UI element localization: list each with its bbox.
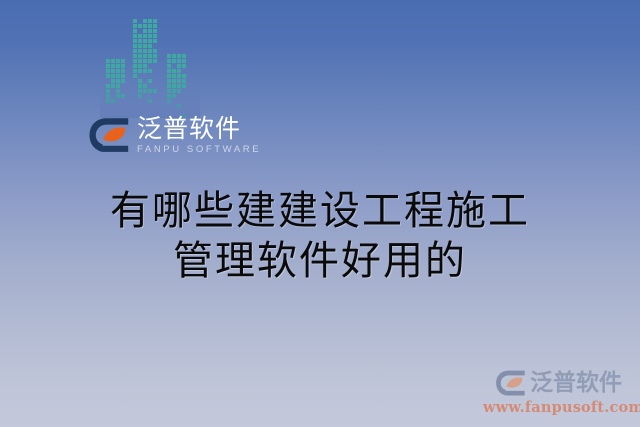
skyline-pixel bbox=[133, 29, 137, 33]
skyline-pixel bbox=[172, 89, 176, 93]
skyline-pixel bbox=[143, 104, 147, 108]
skyline-pixel bbox=[182, 104, 186, 108]
skyline-pixel bbox=[121, 99, 125, 103]
skyline-pixel bbox=[138, 94, 142, 98]
skyline-pixel bbox=[138, 24, 142, 28]
skyline-pixel bbox=[133, 109, 137, 113]
skyline-pixel bbox=[153, 49, 157, 53]
skyline-pixel bbox=[172, 99, 176, 103]
skyline-pixel bbox=[121, 84, 125, 88]
skyline-pixel bbox=[153, 19, 157, 23]
skyline-pixel bbox=[153, 54, 157, 58]
skyline-pixel bbox=[153, 39, 157, 43]
skyline-pixel bbox=[177, 69, 181, 73]
skyline-pixel bbox=[167, 54, 171, 58]
skyline-pixel bbox=[138, 29, 142, 33]
skyline-pixel bbox=[106, 104, 110, 108]
skyline-pixel bbox=[106, 94, 110, 98]
skyline-pixel bbox=[138, 54, 142, 58]
skyline-pixel bbox=[121, 74, 125, 78]
skyline-pixel bbox=[106, 84, 110, 88]
skyline-pixel bbox=[148, 79, 152, 83]
slide-canvas: 泛普软件 FANPU SOFTWARE 有哪些建建设工程施工 管理软件好用的 泛… bbox=[0, 0, 640, 427]
skyline-pixel bbox=[153, 69, 157, 73]
skyline-pixel bbox=[121, 59, 125, 63]
skyline-pixel bbox=[106, 74, 110, 78]
skyline-pixel bbox=[121, 109, 125, 113]
skyline-pixel bbox=[116, 89, 120, 93]
skyline-pixel bbox=[177, 104, 181, 108]
skyline-pixel bbox=[133, 84, 137, 88]
skyline-pixel bbox=[133, 89, 137, 93]
skyline-pixel bbox=[153, 29, 157, 33]
skyline-pixel bbox=[177, 99, 181, 103]
skyline-pixel bbox=[106, 109, 110, 113]
skyline-pixel bbox=[153, 74, 157, 78]
skyline-pixel bbox=[133, 19, 137, 23]
skyline-pixel bbox=[182, 99, 186, 103]
skyline-pixel bbox=[133, 94, 137, 98]
skyline-pixel bbox=[121, 104, 125, 108]
skyline-pixel bbox=[172, 94, 176, 98]
skyline-pixel bbox=[106, 64, 110, 68]
skyline-pixel bbox=[148, 59, 152, 63]
skyline-pixel bbox=[133, 39, 137, 43]
skyline-pixel bbox=[143, 89, 147, 93]
skyline-pixel bbox=[111, 59, 115, 63]
skyline-pixel bbox=[143, 94, 147, 98]
skyline-pixel bbox=[172, 84, 176, 88]
skyline-pixel bbox=[116, 99, 120, 103]
skyline-pixel bbox=[133, 64, 137, 68]
skyline-pixel bbox=[106, 59, 110, 63]
skyline-pixel bbox=[133, 79, 137, 83]
skyline-pixel bbox=[121, 89, 125, 93]
skyline-pixel bbox=[143, 84, 147, 88]
skyline-pixel bbox=[138, 89, 142, 93]
page-title-line-1: 有哪些建建设工程施工 bbox=[0, 186, 640, 236]
skyline-pixel bbox=[182, 94, 186, 98]
skyline-pixel bbox=[133, 99, 137, 103]
skyline-pixel bbox=[167, 104, 171, 108]
skyline-pixel bbox=[167, 64, 171, 68]
skyline-pixel bbox=[111, 104, 115, 108]
skyline-pixel bbox=[116, 84, 120, 88]
skyline-pixel bbox=[138, 99, 142, 103]
skyline-pixel bbox=[111, 69, 115, 73]
watermark: 泛普软件 www.fanpusoft.com bbox=[483, 369, 631, 416]
skyline-pixel bbox=[133, 49, 137, 53]
skyline-pixel bbox=[148, 74, 152, 78]
skyline-pixel bbox=[177, 74, 181, 78]
skyline-pixel bbox=[143, 69, 147, 73]
skyline-pixel bbox=[138, 104, 142, 108]
skyline-pixel bbox=[143, 74, 147, 78]
skyline-pixel bbox=[116, 104, 120, 108]
skyline-pixel bbox=[138, 34, 142, 38]
skyline-center-tower bbox=[133, 19, 162, 118]
skyline-pixel bbox=[148, 44, 152, 48]
skyline-pixel bbox=[167, 89, 171, 93]
skyline-pixel bbox=[138, 69, 142, 73]
skyline-pixel bbox=[167, 109, 171, 113]
skyline-pixel bbox=[138, 79, 142, 83]
skyline-pixel bbox=[172, 109, 176, 113]
skyline-pixel bbox=[167, 79, 171, 83]
skyline-pixel bbox=[177, 64, 181, 68]
skyline-pixel bbox=[138, 39, 142, 43]
skyline-pixel bbox=[148, 39, 152, 43]
skyline-pixel bbox=[182, 74, 186, 78]
skyline-pixel bbox=[138, 74, 142, 78]
skyline-pixel bbox=[143, 34, 147, 38]
skyline-pixel bbox=[148, 29, 152, 33]
skyline-pixel bbox=[111, 99, 115, 103]
skyline-pixel bbox=[182, 109, 186, 113]
skyline-pixel bbox=[133, 44, 137, 48]
skyline-pixel bbox=[116, 94, 120, 98]
skyline-pixel bbox=[133, 69, 137, 73]
skyline-pixel bbox=[177, 94, 181, 98]
skyline-pixel bbox=[182, 84, 186, 88]
skyline-pixel bbox=[177, 89, 181, 93]
skyline-pixel bbox=[143, 39, 147, 43]
skyline-pixel bbox=[143, 64, 147, 68]
skyline-pixel bbox=[111, 79, 115, 83]
skyline-pixel bbox=[148, 94, 152, 98]
skyline-pixel bbox=[111, 84, 115, 88]
skyline-pixel bbox=[143, 59, 147, 63]
brand-logo: 泛普软件 FANPU SOFTWARE bbox=[88, 116, 261, 155]
skyline-pixel bbox=[153, 89, 157, 93]
skyline-pixel bbox=[143, 79, 147, 83]
skyline-pixel bbox=[121, 64, 125, 68]
page-title: 有哪些建建设工程施工 管理软件好用的 bbox=[0, 186, 640, 286]
skyline-pixel bbox=[167, 94, 171, 98]
pixel-skyline-decoration bbox=[100, 32, 200, 118]
skyline-pixel bbox=[172, 79, 176, 83]
skyline-pixel bbox=[143, 44, 147, 48]
skyline-pixel bbox=[153, 94, 157, 98]
skyline-pixel bbox=[172, 59, 176, 63]
skyline-pixel bbox=[172, 54, 176, 58]
skyline-pixel bbox=[153, 64, 157, 68]
skyline-pixel bbox=[143, 49, 147, 53]
skyline-pixel bbox=[153, 109, 157, 113]
fanpu-logo-icon bbox=[88, 116, 130, 154]
skyline-pixel bbox=[172, 104, 176, 108]
skyline-right-tower bbox=[167, 54, 190, 118]
skyline-pixel bbox=[116, 74, 120, 78]
skyline-pixel bbox=[106, 89, 110, 93]
skyline-pixel bbox=[167, 99, 171, 103]
watermark-url: www.fanpusoft.com bbox=[483, 399, 631, 416]
skyline-pixel bbox=[148, 84, 152, 88]
skyline-pixel bbox=[172, 74, 176, 78]
skyline-pixel bbox=[153, 24, 157, 28]
skyline-pixel bbox=[148, 54, 152, 58]
skyline-pixel bbox=[116, 69, 120, 73]
skyline-pixel bbox=[106, 79, 110, 83]
skyline-pixel bbox=[111, 94, 115, 98]
skyline-pixel bbox=[182, 59, 186, 63]
skyline-pixel bbox=[153, 104, 157, 108]
skyline-pixel bbox=[116, 64, 120, 68]
skyline-pixel bbox=[138, 64, 142, 68]
skyline-pixel bbox=[138, 44, 142, 48]
skyline-pixel bbox=[172, 69, 176, 73]
skyline-pixel bbox=[116, 79, 120, 83]
skyline-pixel bbox=[182, 89, 186, 93]
skyline-pixel bbox=[153, 84, 157, 88]
skyline-pixel bbox=[143, 99, 147, 103]
skyline-pixel bbox=[148, 49, 152, 53]
skyline-pixel bbox=[182, 69, 186, 73]
skyline-pixel bbox=[153, 34, 157, 38]
skyline-pixel bbox=[116, 109, 120, 113]
skyline-pixel bbox=[182, 79, 186, 83]
brand-wordmark: 泛普软件 FANPU SOFTWARE bbox=[137, 116, 261, 155]
skyline-pixel bbox=[138, 19, 142, 23]
skyline-pixel bbox=[111, 74, 115, 78]
skyline-pixel bbox=[153, 59, 157, 63]
skyline-pixel bbox=[138, 84, 142, 88]
skyline-pixel bbox=[148, 69, 152, 73]
skyline-pixel bbox=[153, 44, 157, 48]
fanpu-watermark-icon bbox=[495, 369, 526, 397]
skyline-pixel bbox=[143, 29, 147, 33]
skyline-pixel bbox=[177, 59, 181, 63]
skyline-pixel bbox=[143, 54, 147, 58]
brand-name-cn: 泛普软件 bbox=[137, 116, 261, 141]
skyline-pixel bbox=[153, 99, 157, 103]
skyline-pixel bbox=[148, 104, 152, 108]
skyline-left-tower bbox=[106, 59, 128, 118]
skyline-pixel bbox=[177, 79, 181, 83]
skyline-pixel bbox=[172, 64, 176, 68]
skyline-pixel bbox=[148, 19, 152, 23]
skyline-pixel bbox=[121, 94, 125, 98]
skyline-pixel bbox=[138, 49, 142, 53]
skyline-pixel bbox=[182, 64, 186, 68]
skyline-pixel bbox=[177, 109, 181, 113]
page-title-line-2: 管理软件好用的 bbox=[0, 236, 640, 286]
skyline-pixel bbox=[177, 54, 181, 58]
skyline-pixel bbox=[138, 59, 142, 63]
watermark-name-cn: 泛普软件 bbox=[530, 372, 622, 395]
skyline-pixel bbox=[133, 104, 137, 108]
skyline-pixel bbox=[148, 109, 152, 113]
skyline-pixel bbox=[167, 59, 171, 63]
skyline-pixel bbox=[116, 59, 120, 63]
skyline-pixel bbox=[121, 69, 125, 73]
skyline-pixel bbox=[111, 64, 115, 68]
skyline-pixel bbox=[111, 109, 115, 113]
skyline-pixel bbox=[148, 64, 152, 68]
skyline-pixel bbox=[133, 74, 137, 78]
skyline-pixel bbox=[143, 109, 147, 113]
skyline-pixel bbox=[148, 24, 152, 28]
skyline-pixel bbox=[167, 84, 171, 88]
skyline-pixel bbox=[153, 79, 157, 83]
skyline-pixel bbox=[177, 84, 181, 88]
skyline-pixel bbox=[111, 89, 115, 93]
watermark-lockup: 泛普软件 bbox=[483, 369, 631, 397]
skyline-pixel bbox=[133, 34, 137, 38]
skyline-pixel bbox=[133, 59, 137, 63]
skyline-pixel bbox=[148, 89, 152, 93]
skyline-pixel bbox=[143, 19, 147, 23]
skyline-pixel bbox=[148, 99, 152, 103]
skyline-pixel bbox=[148, 34, 152, 38]
skyline-pixel bbox=[167, 74, 171, 78]
skyline-pixel bbox=[133, 54, 137, 58]
skyline-pixel bbox=[138, 109, 142, 113]
skyline-pixel bbox=[133, 24, 137, 28]
skyline-pixel bbox=[106, 99, 110, 103]
skyline-pixel bbox=[167, 69, 171, 73]
brand-name-en: FANPU SOFTWARE bbox=[137, 145, 261, 155]
skyline-pixel bbox=[121, 79, 125, 83]
skyline-pixel bbox=[182, 54, 186, 58]
skyline-pixel bbox=[143, 24, 147, 28]
skyline-pixel bbox=[106, 69, 110, 73]
